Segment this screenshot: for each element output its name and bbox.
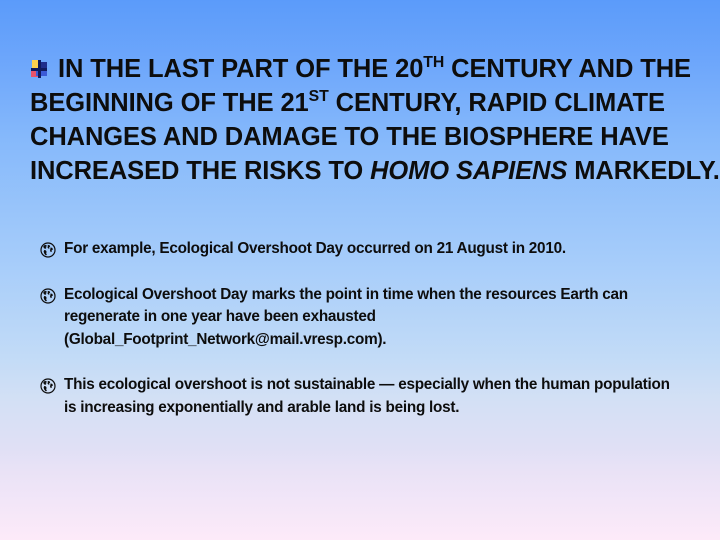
title-segment: CENTURY, RAPID CLIMATE: [329, 89, 665, 117]
list-item: This ecological overshoot is not sustain…: [40, 374, 680, 419]
list-item-text: This ecological overshoot is not sustain…: [64, 374, 680, 419]
list-item-text: For example, Ecological Overshoot Day oc…: [64, 238, 680, 261]
globe-bullet-icon: [40, 242, 56, 258]
title-line-1: IN THE LAST PART OF THE 20TH CENTURY AND…: [30, 52, 690, 86]
slide-body: For example, Ecological Overshoot Day oc…: [40, 238, 680, 419]
globe-bullet-icon: [40, 288, 56, 304]
title-segment: MARKEDLY.: [567, 157, 720, 185]
list-item: Ecological Overshoot Day marks the point…: [40, 284, 680, 352]
title-line-2: BEGINNING OF THE 21ST CENTURY, RAPID CLI…: [30, 86, 690, 120]
slide-canvas: IN THE LAST PART OF THE 20TH CENTURY AND…: [0, 0, 720, 540]
title-segment: BEGINNING OF THE 21: [30, 89, 309, 117]
title-segment: IN THE LAST PART OF THE 20: [58, 55, 423, 83]
slide-title: IN THE LAST PART OF THE 20TH CENTURY AND…: [30, 52, 690, 188]
title-superscript: ST: [309, 88, 329, 105]
title-segment: CHANGES AND DAMAGE TO THE BIOSPHERE HAVE: [30, 123, 669, 151]
title-line-4: INCREASED THE RISKS TO HOMO SAPIENS MARK…: [30, 154, 690, 188]
list-item: For example, Ecological Overshoot Day oc…: [40, 238, 680, 261]
title-line-3: CHANGES AND DAMAGE TO THE BIOSPHERE HAVE: [30, 120, 690, 154]
title-segment-italic: HOMO SAPIENS: [370, 157, 567, 185]
pinwheel-bullet-icon: [30, 60, 49, 79]
title-superscript: TH: [423, 54, 444, 71]
globe-bullet-icon: [40, 378, 56, 394]
list-item-text: Ecological Overshoot Day marks the point…: [64, 284, 680, 352]
title-segment: INCREASED THE RISKS TO: [30, 157, 370, 185]
title-segment: CENTURY AND THE: [444, 55, 691, 83]
